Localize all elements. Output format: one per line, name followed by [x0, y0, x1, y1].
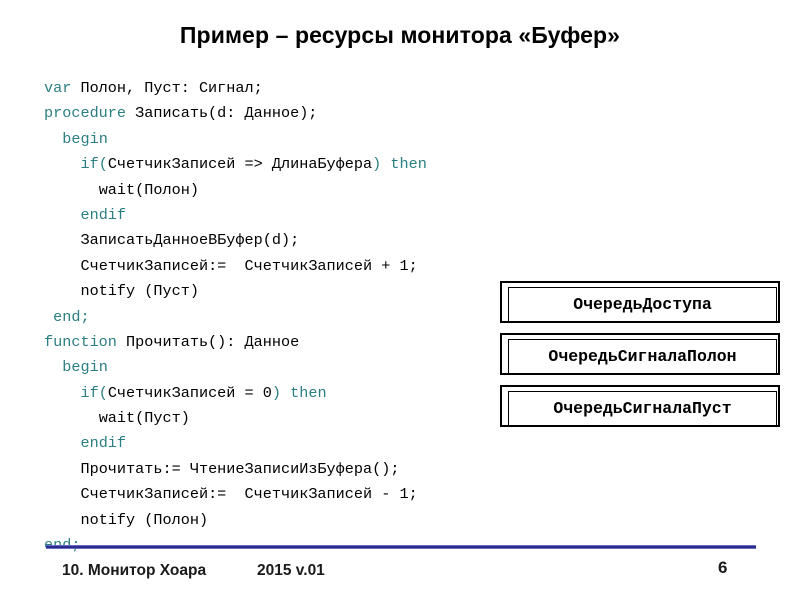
page-title: Пример – ресурсы монитора «Буфер»	[0, 22, 800, 49]
code-text	[281, 384, 290, 402]
code-line: notify (Полон)	[44, 508, 604, 533]
code-keyword: function	[44, 333, 117, 351]
code-keyword: begin	[62, 130, 108, 148]
code-keyword: procedure	[44, 104, 126, 122]
code-line: endif	[44, 431, 604, 456]
code-text: notify (Полон)	[80, 511, 208, 529]
code-text: wait(Полон)	[99, 181, 199, 199]
code-indent	[44, 130, 62, 148]
queue-box-signal-full-label: ОчередьСигналаПолон	[508, 339, 777, 374]
queue-box-signal-empty[interactable]: ОчередьСигналаПуст	[500, 385, 780, 427]
code-text: СчетчикЗаписей => ДлинаБуфера	[108, 155, 372, 173]
code-keyword: begin	[62, 358, 108, 376]
code-text: СчетчикЗаписей:= СчетчикЗаписей - 1;	[80, 485, 417, 503]
code-keyword: then	[290, 384, 326, 402]
code-text: Прочитать(): Данное	[117, 333, 299, 351]
code-line: СчетчикЗаписей:= СчетчикЗаписей - 1;	[44, 482, 604, 507]
code-line: var Полон, Пуст: Сигнал;	[44, 76, 604, 101]
queue-box-signal-empty-label: ОчередьСигналаПуст	[508, 391, 777, 426]
code-keyword: endif	[80, 206, 126, 224]
code-indent	[44, 511, 80, 529]
code-indent	[44, 460, 80, 478]
code-keyword: )	[272, 384, 281, 402]
code-line: endif	[44, 203, 604, 228]
footer-page-number: 6	[718, 558, 727, 578]
code-keyword: )	[372, 155, 381, 173]
code-text: Прочитать:= ЧтениеЗаписиИзБуфера();	[80, 460, 399, 478]
code-text: Записать(d: Данное);	[126, 104, 317, 122]
code-text: СчетчикЗаписей = 0	[108, 384, 272, 402]
code-indent	[44, 231, 80, 249]
code-line: procedure Записать(d: Данное);	[44, 101, 604, 126]
code-line: ЗаписатьДанноеВБуфер(d);	[44, 228, 604, 253]
code-text: СчетчикЗаписей:= СчетчикЗаписей + 1;	[80, 257, 417, 275]
code-keyword: if(	[80, 384, 107, 402]
queue-box-signal-full[interactable]: ОчередьСигналаПолон	[500, 333, 780, 375]
footer-divider	[46, 545, 756, 549]
code-indent	[44, 485, 80, 503]
code-text: wait(Пуст)	[99, 409, 190, 427]
code-text: ЗаписатьДанноеВБуфер(d);	[80, 231, 299, 249]
code-line: if(СчетчикЗаписей => ДлинаБуфера) then	[44, 152, 604, 177]
queue-box-access-label: ОчередьДоступа	[508, 287, 777, 322]
queue-box-access[interactable]: ОчередьДоступа	[500, 281, 780, 323]
code-line: СчетчикЗаписей:= СчетчикЗаписей + 1;	[44, 254, 604, 279]
footer-chapter-label: 10. Монитор Хоара	[62, 562, 206, 580]
code-line: wait(Полон)	[44, 178, 604, 203]
code-indent	[44, 358, 62, 376]
code-text	[44, 308, 53, 326]
code-indent	[44, 409, 99, 427]
code-indent	[44, 384, 80, 402]
code-line: Прочитать:= ЧтениеЗаписиИзБуфера();	[44, 457, 604, 482]
code-keyword: then	[390, 155, 426, 173]
code-indent	[44, 257, 80, 275]
code-indent	[44, 282, 80, 300]
code-keyword: endif	[80, 434, 126, 452]
footer-version-label: 2015 v.01	[257, 562, 325, 580]
code-indent	[44, 181, 99, 199]
code-text	[381, 155, 390, 173]
code-indent	[44, 155, 80, 173]
code-keyword: if(	[80, 155, 107, 173]
code-line: begin	[44, 127, 604, 152]
code-keyword: end;	[53, 308, 89, 326]
code-text: Полон, Пуст: Сигнал;	[71, 79, 262, 97]
code-indent	[44, 206, 80, 224]
code-indent	[44, 434, 80, 452]
code-keyword: var	[44, 79, 71, 97]
code-text: notify (Пуст)	[80, 282, 198, 300]
